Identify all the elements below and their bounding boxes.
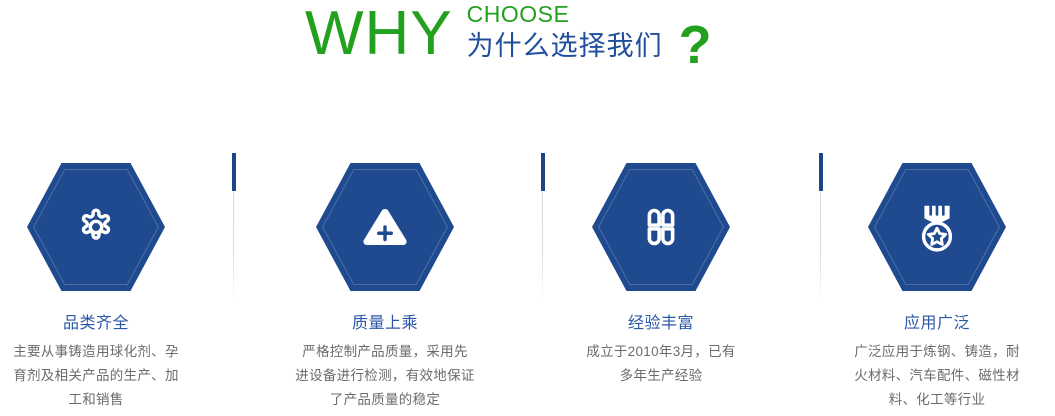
- feature-card[interactable]: 经验丰富 成立于2010年3月，已有 多年生产经验: [529, 150, 793, 416]
- triangle-plus-icon: [316, 163, 454, 291]
- card-description: 主要从事铸造用球化剂、孕 育剂及相关产品的生产、加 工和销售: [0, 340, 228, 412]
- hexagon-badge: [316, 163, 454, 291]
- card-description-line: 育剂及相关产品的生产、加: [0, 364, 200, 388]
- card-description-line: 主要从事铸造用球化剂、孕: [0, 340, 200, 364]
- card-description-line: 严格控制产品质量，采用先: [281, 340, 489, 364]
- card-title: 质量上乘: [253, 313, 517, 335]
- card-description: 成立于2010年3月，已有 多年生产经验: [529, 340, 793, 388]
- hexagon-badge: [27, 163, 165, 291]
- card-description-line: 了产品质量的稳定: [281, 388, 489, 412]
- card-description: 严格控制产品质量，采用先 进设备进行检测，有效地保证 了产品质量的稳定: [253, 340, 517, 412]
- section-header: WHY CHOOSE 为什么选择我们 ?: [0, 0, 1055, 92]
- header-inner: WHY CHOOSE 为什么选择我们 ?: [305, 0, 712, 72]
- card-description-line: 成立于2010年3月，已有: [557, 340, 765, 364]
- clover-icon: [592, 163, 730, 291]
- heading-why: WHY: [305, 0, 453, 68]
- heading-chinese: 为什么选择我们: [467, 29, 663, 63]
- feature-cards: 品类齐全 主要从事铸造用球化剂、孕 育剂及相关产品的生产、加 工和销售: [0, 150, 1055, 416]
- heading-choose: CHOOSE: [467, 2, 663, 27]
- card-description-line: 火材料、汽车配件、磁性材: [833, 364, 1041, 388]
- heading-stack: CHOOSE 为什么选择我们: [467, 0, 663, 63]
- hexagon-badge: [592, 163, 730, 291]
- card-description-line: 进设备进行检测，有效地保证: [281, 364, 489, 388]
- card-description: 广泛应用于炼钢、铸造，耐 火材料、汽车配件、磁性材 料、化工等行业: [805, 340, 1055, 412]
- card-description-line: 多年生产经验: [557, 364, 765, 388]
- card-description-line: 工和销售: [0, 388, 200, 412]
- gear-icon: [27, 163, 165, 291]
- card-title: 经验丰富: [529, 313, 793, 335]
- medal-icon: [868, 163, 1006, 291]
- feature-card[interactable]: 质量上乘 严格控制产品质量，采用先 进设备进行检测，有效地保证 了产品质量的稳定: [253, 150, 517, 416]
- card-title: 品类齐全: [0, 313, 228, 335]
- card-description-line: 广泛应用于炼钢、铸造，耐: [833, 340, 1041, 364]
- heading-question-mark: ?: [679, 0, 712, 72]
- card-title: 应用广泛: [805, 313, 1055, 335]
- feature-card[interactable]: 应用广泛 广泛应用于炼钢、铸造，耐 火材料、汽车配件、磁性材 料、化工等行业: [805, 150, 1055, 416]
- hexagon-badge: [868, 163, 1006, 291]
- card-description-line: 料、化工等行业: [833, 388, 1041, 412]
- feature-card[interactable]: 品类齐全 主要从事铸造用球化剂、孕 育剂及相关产品的生产、加 工和销售: [0, 150, 228, 416]
